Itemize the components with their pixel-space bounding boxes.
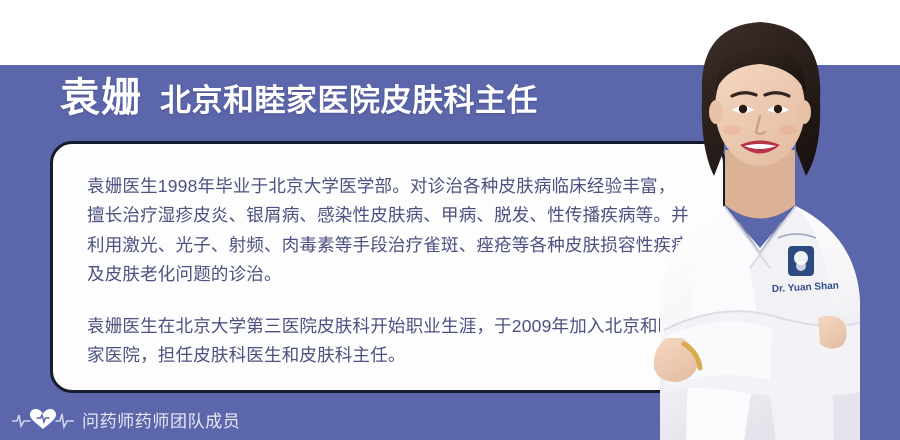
doctor-position-title: 北京和睦家医院皮肤科主任	[160, 85, 538, 116]
profile-banner: 袁姗 北京和睦家医院皮肤科主任 袁姗医生1998年毕业于北京大学医学部。对诊治各…	[0, 0, 900, 440]
heart-ecg-icon	[12, 406, 74, 432]
footer-brand: 问药师药师团队成员	[12, 406, 240, 432]
doctor-name: 袁姗	[60, 78, 142, 118]
bio-paragraph-2: 袁姗医生在北京大学第三医院皮肤科开始职业生涯，于2009年加入北京和睦家医院，担…	[87, 312, 689, 371]
brand-label: 问药师药师团队成员	[82, 407, 240, 432]
bio-card: 袁姗医生1998年毕业于北京大学医学部。对诊治各种皮肤病临床经验丰富，擅长治疗湿…	[50, 141, 726, 393]
page-title: 袁姗 北京和睦家医院皮肤科主任	[60, 78, 538, 118]
bio-paragraph-1: 袁姗医生1998年毕业于北京大学医学部。对诊治各种皮肤病临床经验丰富，擅长治疗湿…	[87, 172, 689, 290]
